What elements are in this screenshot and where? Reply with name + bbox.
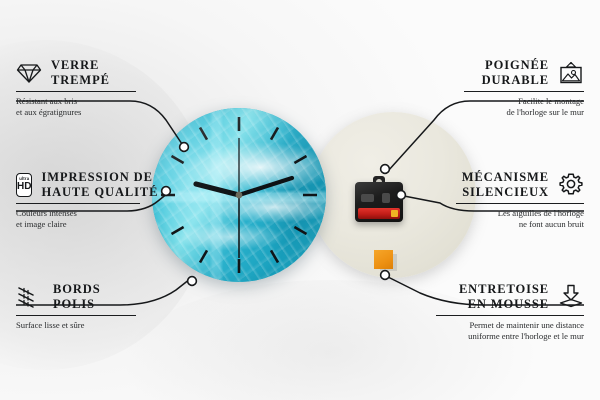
feature-subtitle-line2: ne font aucun bruit <box>456 219 584 230</box>
feature-mecanisme-silencieux: MÉCANISME SILENCIEUX Les aiguilles de l'… <box>456 170 584 229</box>
feature-title-line2: POLIS <box>53 297 101 312</box>
feature-subtitle-line1: Facilite le montage <box>464 96 584 107</box>
foam-spacer-arrow-icon <box>558 284 584 309</box>
ultra-hd-badge-main-text: HD <box>17 182 31 192</box>
feature-title-line2: DURABLE <box>482 73 549 88</box>
divider <box>436 315 584 316</box>
feature-poignee-durable: POIGNÉE DURABLE Facilite le montage de l… <box>464 58 584 117</box>
divider <box>16 203 140 204</box>
feature-title-line2: EN MOUSSE <box>459 297 549 312</box>
gear-icon <box>558 172 584 197</box>
feature-title-line1: MÉCANISME <box>462 170 549 185</box>
ultra-hd-badge-icon: ultra HD <box>16 173 32 197</box>
feature-title-line2: HAUTE QUALITÉ <box>41 185 158 200</box>
connector-dot-impression <box>162 187 171 196</box>
feature-subtitle-line1: Permet de maintenir une distance <box>436 320 584 331</box>
divider <box>464 91 584 92</box>
divider <box>456 203 584 204</box>
feature-entretoise-en-mousse: ENTRETOISE EN MOUSSE Permet de maintenir… <box>436 282 584 341</box>
connector-dot-bords-polis <box>188 277 197 286</box>
feature-title-line1: BORDS <box>53 282 101 297</box>
feature-title-line1: ENTRETOISE <box>459 282 549 297</box>
feature-subtitle-line1: Surface lisse et sûre <box>16 320 136 331</box>
connector-dot-verre-trempe <box>180 143 189 152</box>
feature-title-line2: TREMPÉ <box>51 73 110 88</box>
feature-subtitle-line1: Résistant aux bris <box>16 96 136 107</box>
feature-title-line1: VERRE <box>51 58 110 73</box>
connector-dot-mecanisme <box>397 191 406 200</box>
feature-bords-polis: BORDS POLIS Surface lisse et sûre <box>16 282 136 331</box>
feature-subtitle-line1: Les aiguilles de l'horloge <box>456 208 584 219</box>
feature-title-line1: IMPRESSION DE <box>41 170 158 185</box>
connector-dot-poignee <box>381 165 390 174</box>
connector-dot-entretoise <box>381 271 390 280</box>
feature-subtitle-line2: et aux égratignures <box>16 107 136 118</box>
picture-frame-hanger-icon <box>558 61 584 85</box>
feature-impression-haute-qualite: ultra HD IMPRESSION DE HAUTE QUALITÉ Cou… <box>16 170 140 229</box>
polished-edges-icon <box>16 286 44 308</box>
feature-subtitle-line1: Couleurs intenses <box>16 208 140 219</box>
diamond-icon <box>16 62 42 84</box>
feature-subtitle-line2: uniforme entre l'horloge et le mur <box>436 331 584 342</box>
divider <box>16 91 136 92</box>
feature-title-line1: POIGNÉE <box>482 58 549 73</box>
infographic-stage: VERRE TREMPÉ Résistant aux bris et aux é… <box>0 0 600 400</box>
feature-subtitle-line2: de l'horloge sur le mur <box>464 107 584 118</box>
feature-title-line2: SILENCIEUX <box>462 185 549 200</box>
feature-subtitle-line2: et image claire <box>16 219 140 230</box>
divider <box>16 315 136 316</box>
feature-verre-trempe: VERRE TREMPÉ Résistant aux bris et aux é… <box>16 58 136 117</box>
